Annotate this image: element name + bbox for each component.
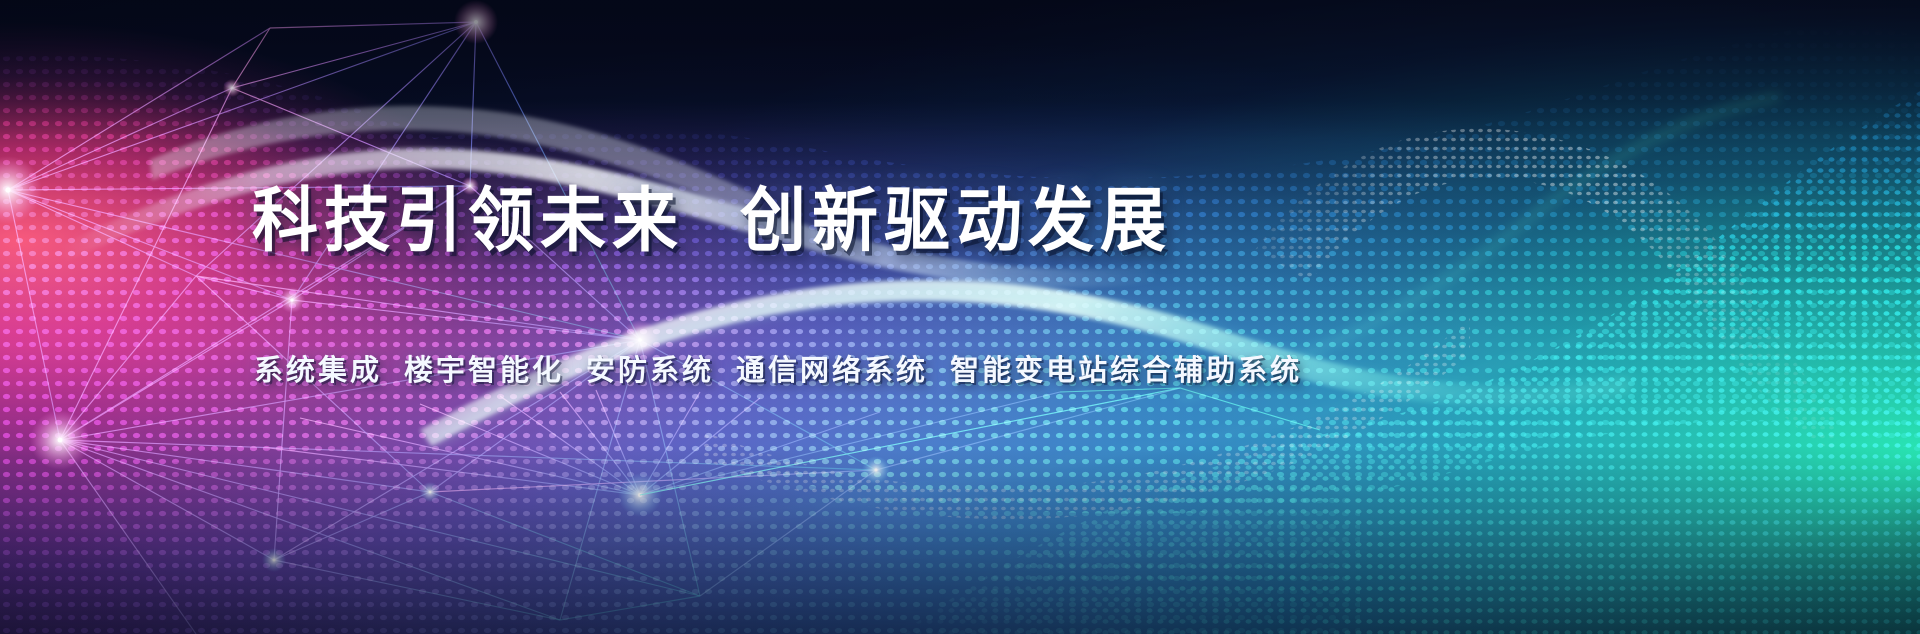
subtitle-item-2: 安防系统 bbox=[586, 355, 714, 387]
headline-part-2: 创新驱动发展 bbox=[740, 181, 1172, 259]
headline-part-1: 科技引领未来 bbox=[252, 181, 684, 259]
subtitle-item-0: 系统集成 bbox=[254, 355, 382, 387]
banner-subtitle: 系统集成楼宇智能化安防系统通信网络系统智能变电站综合辅助系统 bbox=[254, 352, 1302, 390]
banner-content: 科技引领未来创新驱动发展 系统集成楼宇智能化安防系统通信网络系统智能变电站综合辅… bbox=[0, 0, 1920, 634]
subtitle-item-3: 通信网络系统 bbox=[736, 355, 928, 387]
banner-headline: 科技引领未来创新驱动发展 bbox=[252, 182, 1172, 258]
hero-banner: 科技引领未来创新驱动发展 系统集成楼宇智能化安防系统通信网络系统智能变电站综合辅… bbox=[0, 0, 1920, 634]
subtitle-item-1: 楼宇智能化 bbox=[404, 355, 564, 387]
subtitle-item-4: 智能变电站综合辅助系统 bbox=[950, 355, 1302, 387]
